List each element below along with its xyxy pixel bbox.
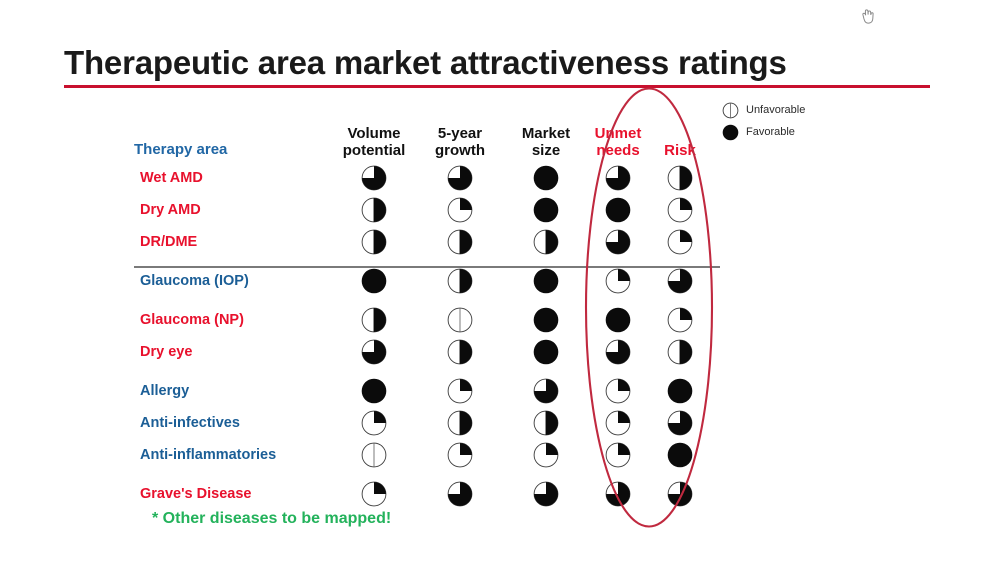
rating-ball-risk <box>667 197 693 223</box>
rating-ball-market-size <box>533 378 559 404</box>
slide-canvas: Therapeutic area market attractiveness r… <box>0 0 1000 561</box>
rating-ball-five-year-growth <box>447 410 473 436</box>
rating-ball-five-year-growth <box>447 481 473 507</box>
rating-ball-five-year-growth <box>447 307 473 333</box>
row-label-dr-dme: DR/DME <box>140 234 197 250</box>
rating-ball-volume-potential <box>361 197 387 223</box>
rating-ball-risk <box>667 378 693 404</box>
legend-item-unfavorable: Unfavorable <box>722 100 862 120</box>
row-label-allergy: Allergy <box>140 383 189 399</box>
page-title: Therapeutic area market attractiveness r… <box>64 44 787 82</box>
rating-ball-risk <box>667 339 693 365</box>
rating-ball-volume-potential <box>361 410 387 436</box>
rating-ball-volume-potential <box>361 442 387 468</box>
rating-ball-unmet-needs <box>605 378 631 404</box>
rating-ball-five-year-growth <box>447 197 473 223</box>
table-row: Grave's Disease <box>134 478 720 510</box>
rating-ball-market-size <box>533 165 559 191</box>
rating-ball-market-size <box>533 229 559 255</box>
rating-ball-volume-potential <box>361 378 387 404</box>
rating-ball-five-year-growth <box>447 165 473 191</box>
rating-ball-risk <box>667 442 693 468</box>
rating-ball-volume-potential <box>361 165 387 191</box>
filled-circle-icon <box>722 124 739 141</box>
rating-ball-market-size <box>533 268 559 294</box>
rating-ball-unmet-needs <box>605 339 631 365</box>
title-underline-rule <box>64 85 930 88</box>
rating-ball-risk <box>667 268 693 294</box>
rating-ball-risk <box>667 307 693 333</box>
table-row: Glaucoma (NP) <box>134 304 720 336</box>
rating-ball-five-year-growth <box>447 378 473 404</box>
row-label-dry-eye: Dry eye <box>140 344 192 360</box>
table-row: Anti-inflammatories <box>134 439 720 471</box>
table-header-row: Therapy area Volumepotential5-yeargrowth… <box>134 106 720 160</box>
table-row: Allergy <box>134 375 720 407</box>
table-body: Wet AMDDry AMDDR/DMEGlaucoma (IOP)Glauco… <box>134 162 720 510</box>
row-label-dry-amd: Dry AMD <box>140 202 201 218</box>
rating-ball-risk <box>667 481 693 507</box>
row-label-anti-inflammatories: Anti-inflammatories <box>140 447 276 463</box>
rating-ball-risk <box>667 165 693 191</box>
rating-ball-volume-potential <box>361 268 387 294</box>
column-header-risk: Risk <box>625 143 735 160</box>
rating-ball-unmet-needs <box>605 268 631 294</box>
legend-item-favorable: Favorable <box>722 122 862 142</box>
empty-circle-icon <box>722 102 739 119</box>
row-label-glaucoma-np: Glaucoma (NP) <box>140 312 244 328</box>
rating-ball-market-size <box>533 197 559 223</box>
row-label-glaucoma-iop: Glaucoma (IOP) <box>140 273 249 289</box>
rating-ball-risk <box>667 410 693 436</box>
rating-ball-market-size <box>533 410 559 436</box>
rating-ball-five-year-growth <box>447 268 473 294</box>
table-row: Glaucoma (IOP) <box>134 265 720 297</box>
rating-ball-five-year-growth <box>447 442 473 468</box>
rating-ball-unmet-needs <box>605 442 631 468</box>
ratings-table: Therapy area Volumepotential5-yeargrowth… <box>134 106 720 160</box>
table-row: Dry AMD <box>134 194 720 226</box>
rating-ball-market-size <box>533 442 559 468</box>
rating-ball-unmet-needs <box>605 307 631 333</box>
table-row: Anti-infectives <box>134 407 720 439</box>
rating-ball-unmet-needs <box>605 165 631 191</box>
rating-ball-five-year-growth <box>447 229 473 255</box>
legend-item-label: Favorable <box>746 126 795 138</box>
footnote-text: * Other diseases to be mapped! <box>152 510 391 528</box>
table-row: Dry eye <box>134 336 720 368</box>
legend: UnfavorableFavorable <box>722 100 862 144</box>
rating-ball-unmet-needs <box>605 197 631 223</box>
column-header-line1: Unmet <box>563 126 673 143</box>
rating-ball-unmet-needs <box>605 229 631 255</box>
rating-ball-volume-potential <box>361 229 387 255</box>
rating-ball-market-size <box>533 339 559 365</box>
table-row: DR/DME <box>134 226 720 258</box>
hand-pointer-cursor <box>858 6 876 26</box>
rating-ball-volume-potential <box>361 339 387 365</box>
column-header-therapy-area: Therapy area <box>134 141 227 158</box>
legend-item-label: Unfavorable <box>746 104 805 116</box>
table-row: Wet AMD <box>134 162 720 194</box>
rating-ball-market-size <box>533 307 559 333</box>
rating-ball-risk <box>667 229 693 255</box>
rating-ball-unmet-needs <box>605 481 631 507</box>
rating-ball-volume-potential <box>361 307 387 333</box>
rating-ball-market-size <box>533 481 559 507</box>
rating-ball-unmet-needs <box>605 410 631 436</box>
row-label-wet-amd: Wet AMD <box>140 170 203 186</box>
row-label-anti-infectives: Anti-infectives <box>140 415 240 431</box>
rating-ball-volume-potential <box>361 481 387 507</box>
row-label-grave-s-disease: Grave's Disease <box>140 486 251 502</box>
rating-ball-five-year-growth <box>447 339 473 365</box>
